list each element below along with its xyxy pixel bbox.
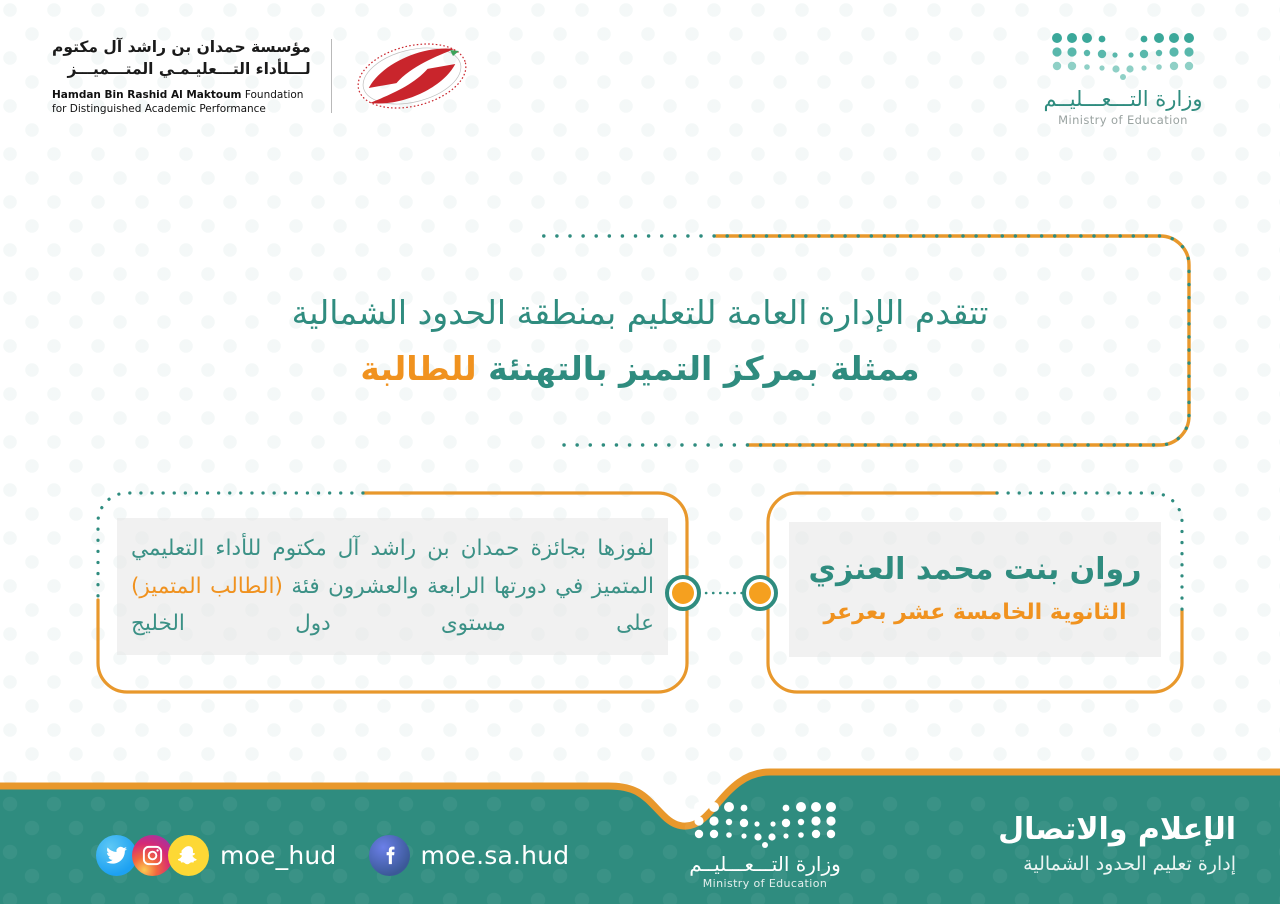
headline-line-1: تتقدم الإدارة العامة للتعليم بمنطقة الحد… (292, 288, 989, 338)
poster-header: مؤسسة حمدان بن راشد آل مكتوم لـــلأداء ا… (0, 0, 1280, 156)
footer-moe-english-label: Ministry of Education (660, 877, 870, 890)
ministry-of-education-logo: وزارة التـــعـــليــم Ministry of Educat… (1028, 30, 1218, 127)
facebook-icon[interactable] (369, 835, 410, 876)
card-connector (655, 568, 785, 618)
student-card: روان بنت محمد العنزي الثانوية الخامسة عش… (765, 490, 1185, 695)
headline-line-2-main: ممثلة بمركز التميز بالتهنئة (477, 349, 920, 388)
hamdan-english-bold: Hamdan Bin Rashid Al Maktoum (52, 89, 242, 101)
hamdan-foundation-logo: مؤسسة حمدان بن راشد آل مكتوم لـــلأداء ا… (52, 36, 472, 116)
student-card-body: روان بنت محمد العنزي الثانوية الخامسة عش… (789, 522, 1161, 657)
footer-department-subtitle: إدارة تعليم الحدود الشمالية (998, 851, 1236, 878)
student-school: الثانوية الخامسة عشر بعرعر (823, 598, 1126, 629)
snapchat-icon[interactable] (168, 835, 209, 876)
social-group-primary: moe_hud (96, 835, 369, 876)
award-reason-part-2: على مستوى دول الخليج (131, 611, 654, 636)
headline-content: تتقدم الإدارة العامة للتعليم بمنطقة الحد… (88, 233, 1192, 448)
hamdan-logo-text: مؤسسة حمدان بن راشد آل مكتوم لـــلأداء ا… (52, 36, 311, 116)
social-handle-primary[interactable]: moe_hud (220, 841, 337, 870)
award-reason-card: لفوزها بجائزة حمدان بن راشد آل مكتوم للأ… (95, 490, 690, 695)
poster-footer: moe_hud moe.sa.hud (0, 760, 1280, 904)
social-group-facebook: moe.sa.hud (369, 835, 570, 876)
hamdan-english-line-2: for Distinguished Academic Performance (52, 102, 311, 116)
hamdan-arabic-line-1: مؤسسة حمدان بن راشد آل مكتوم (52, 36, 311, 58)
hamdan-english-light: Foundation (242, 89, 304, 101)
award-reason-text: لفوزها بجائزة حمدان بن راشد آل مكتوم للأ… (131, 530, 654, 643)
poster-canvas: مؤسسة حمدان بن راشد آل مكتوم لـــلأداء ا… (0, 0, 1280, 904)
award-reason-card-body: لفوزها بجائزة حمدان بن راشد آل مكتوم للأ… (117, 518, 668, 655)
headline-line-2-accent: للطالبة (360, 349, 476, 388)
hamdan-arabic-line-2: لـــلأداء التـــعليـمـي المتـــميـــز (52, 58, 311, 80)
instagram-icon[interactable] (132, 835, 173, 876)
hamdan-foundation-emblem-icon (352, 36, 472, 116)
hamdan-english-line-1: Hamdan Bin Rashid Al Maktoum Foundation (52, 88, 311, 102)
footer-moe-arabic-label: وزارة التـــعـــليــم (660, 853, 870, 875)
logo-divider (331, 39, 332, 113)
footer-department-title: الإعلام والاتصال (998, 810, 1236, 849)
footer-ministry-logo: وزارة التـــعـــليــم Ministry of Educat… (660, 799, 870, 890)
footer-department: الإعلام والاتصال إدارة تعليم الحدود الشم… (998, 810, 1236, 878)
social-handle-facebook[interactable]: moe.sa.hud (421, 841, 570, 870)
cards-row: روان بنت محمد العنزي الثانوية الخامسة عش… (0, 490, 1280, 695)
headline-line-2: ممثلة بمركز التميز بالتهنئة للطالبة (360, 344, 919, 394)
headline-panel: تتقدم الإدارة العامة للتعليم بمنطقة الحد… (88, 233, 1192, 448)
student-name: روان بنت محمد العنزي (809, 550, 1142, 591)
twitter-icon[interactable] (96, 835, 137, 876)
award-reason-category: (الطالب المتميز) (131, 574, 283, 599)
moe-english-label: Ministry of Education (1028, 113, 1218, 127)
saudi-palm-dots-emblem-icon (1047, 30, 1199, 82)
footer-saudi-palm-dots-emblem-icon (689, 799, 841, 849)
social-links: moe_hud moe.sa.hud (96, 835, 569, 876)
moe-arabic-label: وزارة التـــعـــليــم (1028, 88, 1218, 111)
